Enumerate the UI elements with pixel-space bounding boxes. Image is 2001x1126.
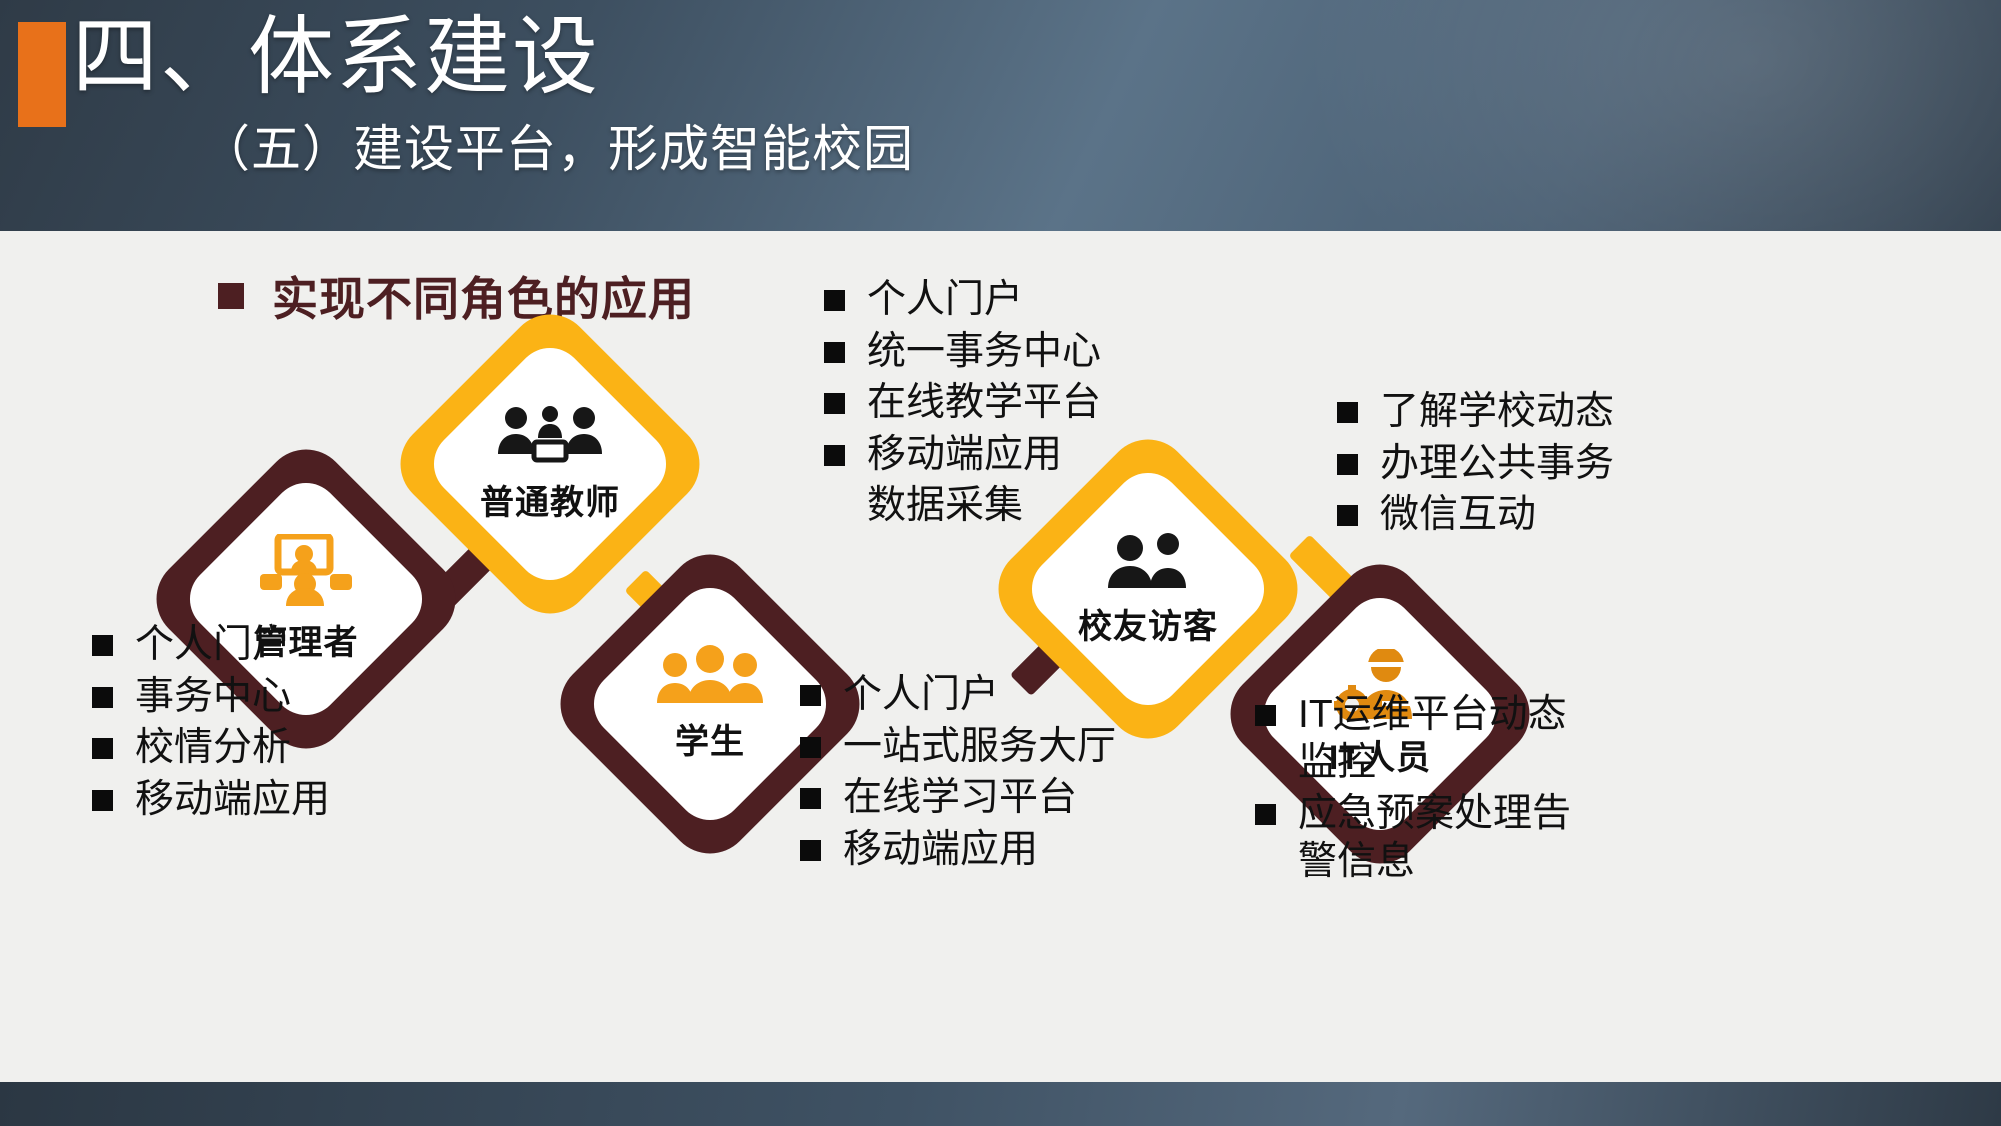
bullet-square-icon (800, 685, 821, 706)
bullet-square-icon (824, 290, 845, 311)
section-heading-label: 实现不同角色的应用 (272, 263, 695, 329)
bullet-list-teacher: 个人门户 统一事务中心 在线教学平台 移动端应用 数据采集 (824, 276, 1101, 534)
list-item: 了解学校动态 (1337, 388, 1614, 436)
role-node-teacher[interactable]: 普通教师 (432, 346, 668, 582)
bullet-square-icon (92, 790, 113, 811)
role-label-teacher: 普通教师 (480, 475, 620, 524)
bullet-square-icon (824, 342, 845, 363)
list-item-label: 应急预案处理告 警信息 (1298, 790, 1571, 885)
list-item: 数据采集 (824, 482, 1101, 530)
slide-body: 实现不同角色的应用 管理者 (0, 231, 2001, 1082)
bullet-square-icon (824, 445, 845, 466)
bullet-list-student: 个人门户 一站式服务大厅 在线学习平台 移动端应用 (800, 671, 1116, 877)
list-item: 校情分析 (92, 724, 330, 772)
bullet-square-icon (92, 635, 113, 656)
role-node-student[interactable]: 学生 (592, 586, 828, 822)
list-item-label: 在线教学平台 (867, 379, 1101, 427)
title-accent-bar (18, 22, 66, 127)
list-item: 办理公共事务 (1337, 440, 1614, 488)
list-item: IT运维平台动态 监控 (1255, 691, 1571, 786)
list-item-label: 事务中心 (135, 673, 291, 721)
list-item: 一站式服务大厅 (800, 723, 1116, 771)
page-subtitle: （五）建设平台，形成智能校园 (200, 122, 914, 177)
section-bullet-square-icon (218, 283, 244, 309)
list-item: 事务中心 (92, 673, 330, 721)
bullet-list-alumni: 了解学校动态 办理公共事务 微信互动 (1337, 388, 1614, 543)
page-title: 四、体系建设 (72, 10, 600, 105)
list-item: 个人门户 (824, 276, 1101, 324)
bullet-square-icon (1337, 454, 1358, 475)
bullet-square-icon (824, 496, 845, 517)
list-item-label: 在线学习平台 (843, 774, 1077, 822)
bullet-list-it: IT运维平台动态 监控 应急预案处理告 警信息 (1255, 691, 1571, 889)
section-heading: 实现不同角色的应用 (218, 263, 695, 329)
bullet-square-icon (1255, 705, 1276, 726)
bullet-square-icon (92, 738, 113, 759)
bullet-list-admin: 个人门户 事务中心 校情分析 移动端应用 (92, 621, 330, 827)
list-item: 移动端应用 (800, 826, 1116, 874)
list-item-label: 个人门户 (843, 671, 999, 719)
bullet-square-icon (800, 840, 821, 861)
list-item: 微信互动 (1337, 491, 1614, 539)
bullet-square-icon (800, 788, 821, 809)
list-item-label: 移动端应用 (843, 826, 1038, 874)
visitors-pair-icon (1100, 530, 1196, 595)
list-item-label: 校情分析 (135, 724, 291, 772)
bullet-square-icon (1337, 505, 1358, 526)
list-item-label: 移动端应用 (867, 431, 1062, 479)
list-item: 在线教学平台 (824, 379, 1101, 427)
slide-header: 四、体系建设 （五）建设平台，形成智能校园 (0, 0, 2001, 231)
bullet-square-icon (92, 687, 113, 708)
list-item-label: 一站式服务大厅 (843, 723, 1116, 771)
list-item-label: 了解学校动态 (1380, 388, 1614, 436)
bullet-square-icon (824, 393, 845, 414)
list-item: 个人门户 (800, 671, 1116, 719)
list-item-label: IT运维平台动态 监控 (1298, 691, 1567, 786)
list-item: 统一事务中心 (824, 328, 1101, 376)
list-item: 在线学习平台 (800, 774, 1116, 822)
bullet-square-icon (800, 737, 821, 758)
list-item: 移动端应用 (92, 776, 330, 824)
role-label-alumni: 校友访客 (1078, 599, 1218, 648)
list-item: 个人门户 (92, 621, 330, 669)
slide-footer (0, 1082, 2001, 1126)
list-item: 应急预案处理告 警信息 (1255, 790, 1571, 885)
bullet-square-icon (1255, 804, 1276, 825)
list-item: 移动端应用 (824, 431, 1101, 479)
list-item-label: 微信互动 (1380, 491, 1536, 539)
list-item-label: 移动端应用 (135, 776, 330, 824)
list-item-label: 办理公共事务 (1380, 440, 1614, 488)
list-item-label: 个人门户 (867, 276, 1023, 324)
teachers-group-icon (494, 404, 606, 471)
bullet-square-icon (1337, 402, 1358, 423)
list-item-label: 数据采集 (867, 482, 1023, 530)
role-label-student: 学生 (675, 714, 745, 763)
list-item-label: 统一事务中心 (867, 328, 1101, 376)
list-item-label: 个人门户 (135, 621, 291, 669)
students-group-icon (655, 645, 765, 710)
admin-monitor-icon (258, 534, 354, 611)
